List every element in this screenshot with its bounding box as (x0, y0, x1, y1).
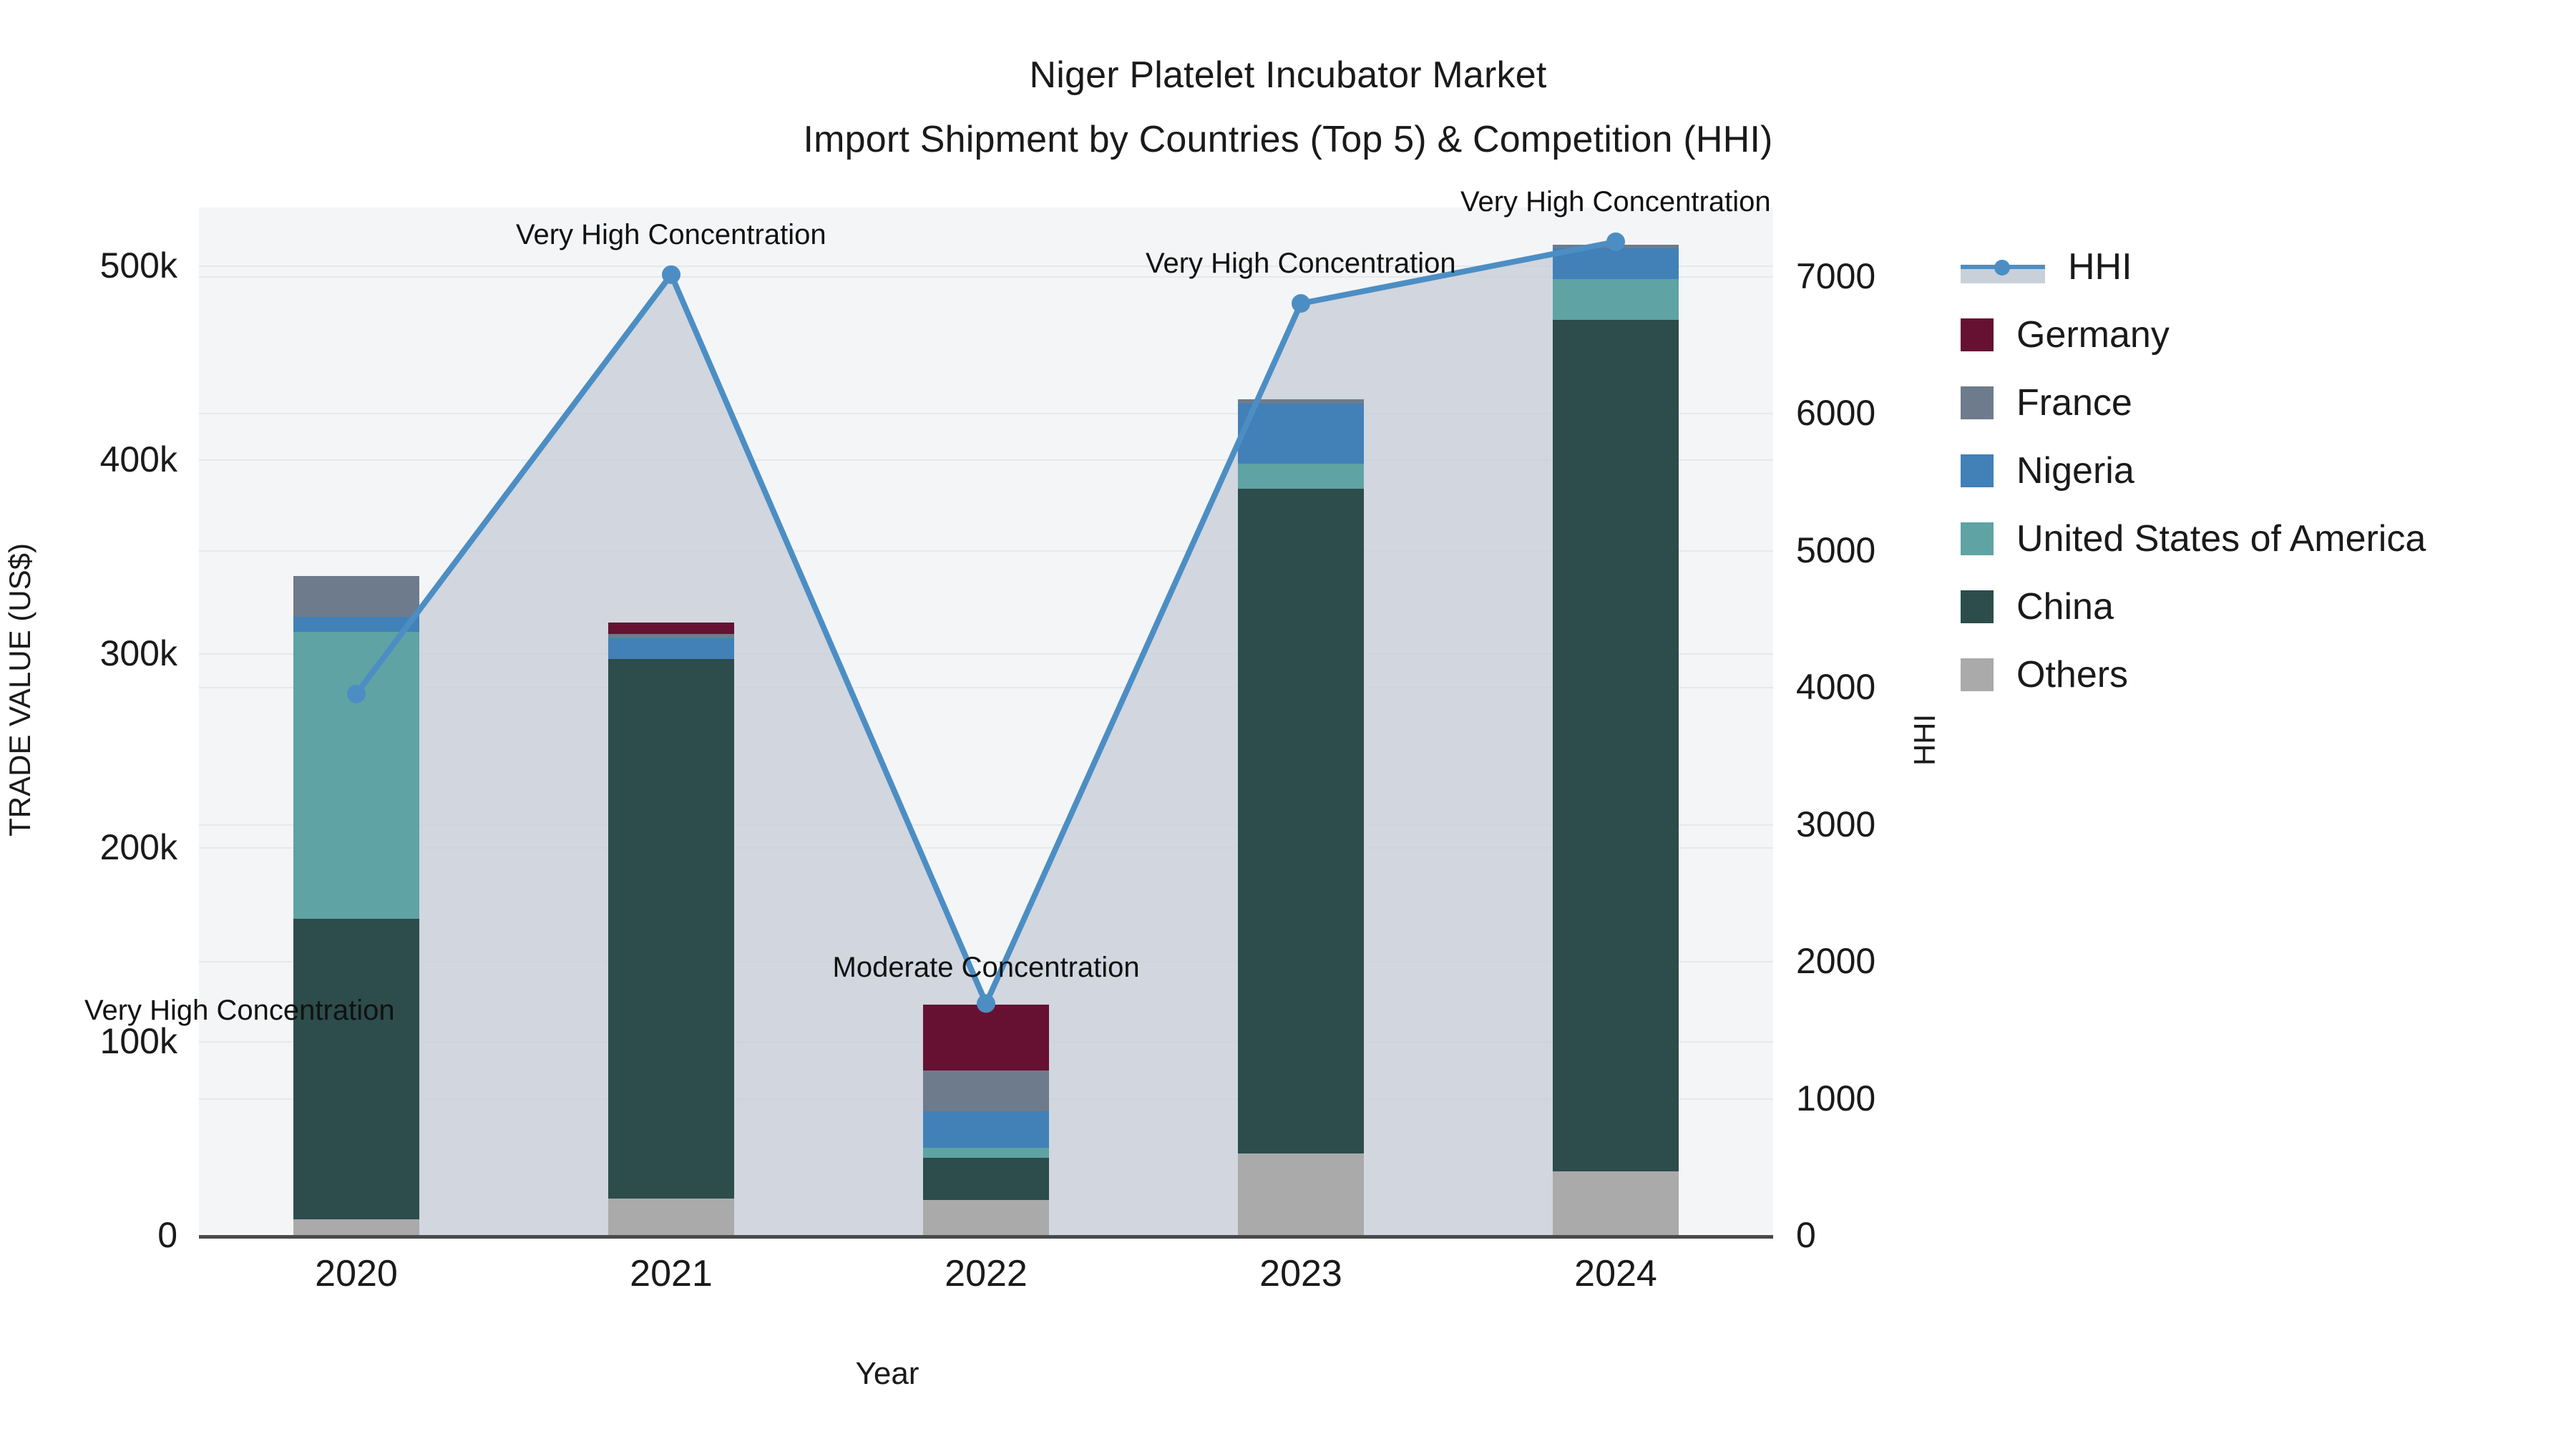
x-axis-tick-label: 2022 (879, 1252, 1093, 1295)
y2-axis-tick-label: 3000 (1796, 804, 1875, 845)
legend-item-others[interactable]: Others (1961, 640, 2562, 708)
legend-item-united-states-of-america[interactable]: United States of America (1961, 504, 2562, 572)
color-swatch-icon (1961, 386, 1994, 419)
y2-axis-tick-label: 4000 (1796, 666, 1875, 708)
legend-label: Others (2016, 653, 2128, 696)
color-swatch-icon (1961, 658, 1994, 691)
x-axis-tick-label: 2021 (564, 1252, 779, 1295)
hhi-annotation: Very High Concentration (84, 995, 395, 1027)
legend-label: Nigeria (2016, 449, 2135, 492)
legend-label: United States of America (2016, 517, 2426, 560)
y-axis-label: TRADE VALUE (US$) (3, 540, 37, 840)
legend-label: HHI (2068, 245, 2132, 288)
legend-label: France (2016, 381, 2132, 424)
x-axis-tick-label: 2020 (249, 1252, 464, 1295)
x-axis-line (199, 1235, 1773, 1239)
legend-label: China (2016, 585, 2114, 628)
hhi-line-swatch-icon (1961, 250, 2045, 283)
hhi-annotation: Very High Concentration (516, 219, 826, 251)
y2-axis-tick-label: 1000 (1796, 1078, 1875, 1119)
legend-item-nigeria[interactable]: Nigeria (1961, 436, 2562, 504)
legend: HHIGermanyFranceNigeriaUnited States of … (1961, 233, 2562, 708)
legend-item-hhi[interactable]: HHI (1961, 233, 2562, 301)
legend-item-france[interactable]: France (1961, 369, 2562, 436)
color-swatch-icon (1961, 318, 1994, 351)
hhi-annotation: Very High Concentration (1146, 248, 1456, 280)
legend-item-china[interactable]: China (1961, 572, 2562, 640)
y-axis-tick-label: 300k (34, 633, 177, 674)
legend-item-germany[interactable]: Germany (1961, 301, 2562, 369)
x-axis-tick-label: 2024 (1508, 1252, 1723, 1295)
color-swatch-icon (1961, 590, 1994, 623)
x-axis-tick-label: 2023 (1194, 1252, 1408, 1295)
color-swatch-icon (1961, 454, 1994, 487)
chart-title: Niger Platelet Incubator Market (0, 54, 2576, 97)
legend-label: Germany (2016, 313, 2170, 356)
hhi-annotation: Moderate Concentration (833, 952, 1140, 984)
y-axis-tick-label: 200k (34, 826, 177, 868)
x-axis-label: Year (0, 1356, 1775, 1392)
y2-axis-tick-label: 2000 (1796, 940, 1875, 982)
y2-axis-label: HHI (1908, 661, 1942, 819)
y2-axis-tick-label: 0 (1796, 1214, 1816, 1256)
plot-area (199, 208, 1773, 1235)
y2-axis-tick-label: 6000 (1796, 392, 1875, 434)
y-axis-tick-label: 500k (34, 245, 177, 286)
chart-canvas: Niger Platelet Incubator Market Import S… (0, 0, 2576, 1449)
hhi-line-overlay (199, 208, 1773, 1235)
y-axis-tick-label: 0 (34, 1214, 177, 1256)
hhi-annotation: Very High Concentration (1460, 186, 1771, 218)
y-axis-tick-label: 400k (34, 439, 177, 480)
chart-subtitle: Import Shipment by Countries (Top 5) & C… (0, 118, 2576, 161)
color-swatch-icon (1961, 522, 1994, 555)
y2-axis-tick-label: 7000 (1796, 255, 1875, 297)
y2-axis-tick-label: 5000 (1796, 530, 1875, 571)
